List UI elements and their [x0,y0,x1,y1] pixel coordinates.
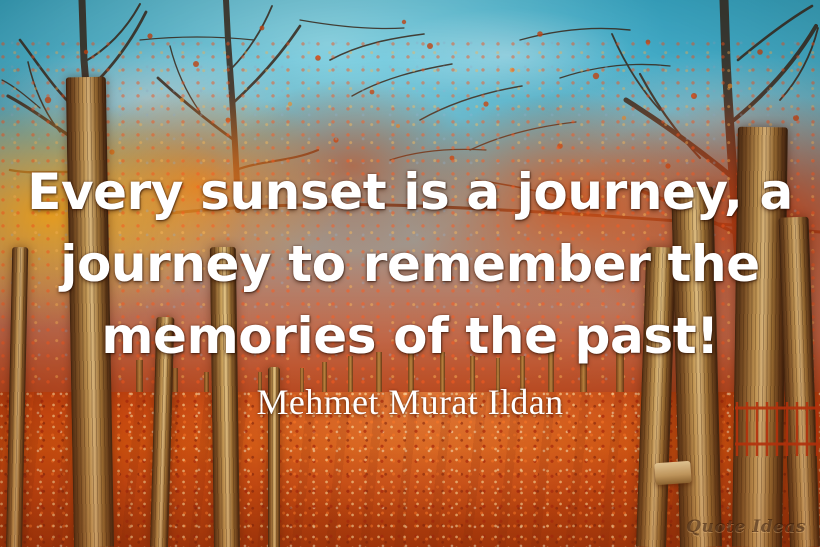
warm-grade [0,0,820,547]
quote-poster: Every sunset is a journey, a journey to … [0,0,820,547]
